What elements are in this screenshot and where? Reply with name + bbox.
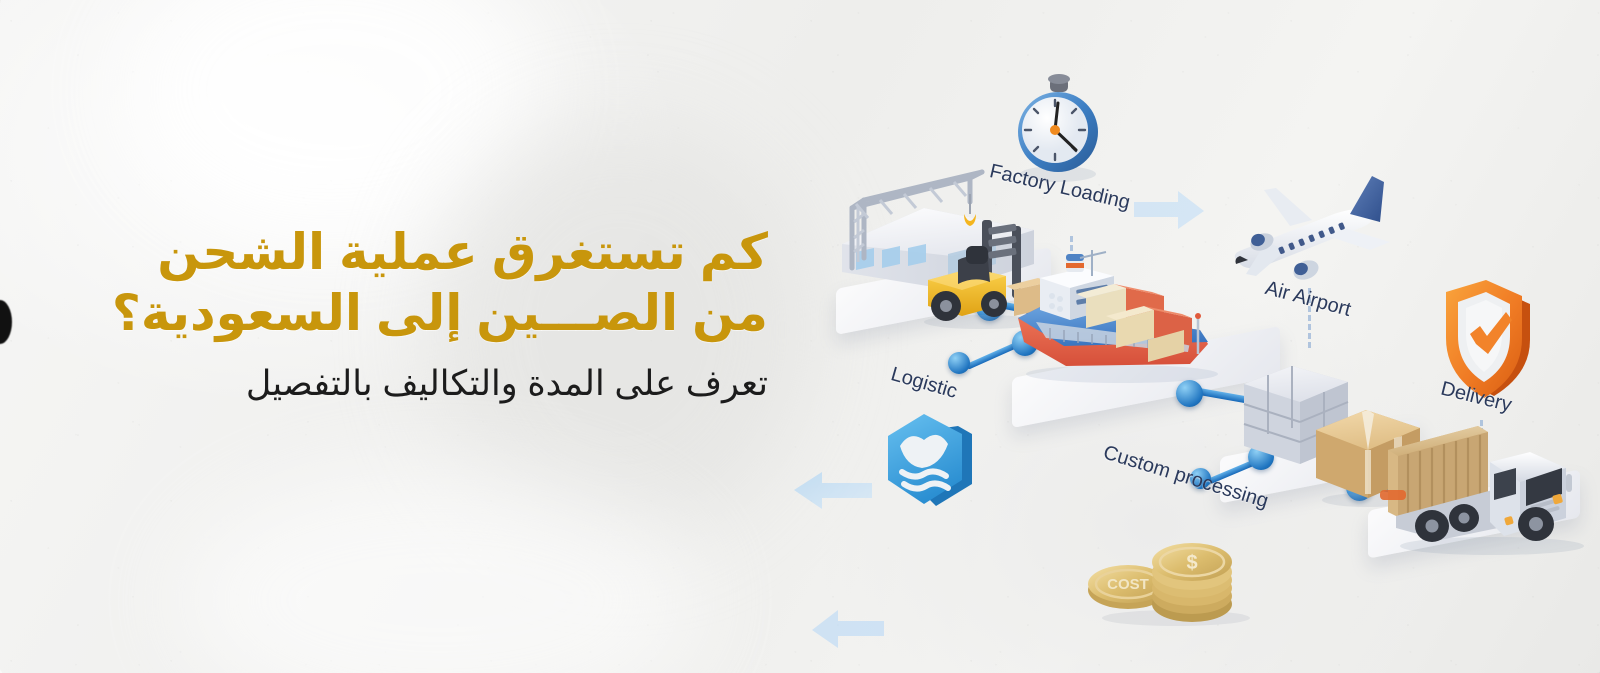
coin-cost-text: COST	[1107, 576, 1149, 593]
arrow-left-up-icon	[788, 470, 878, 540]
background-shade-bottom	[180, 470, 700, 673]
delivery-truck-icon	[1380, 418, 1600, 558]
background-shade-left	[120, 0, 540, 240]
subtitle: تعرف على المدة والتكاليف بالتفصيل	[0, 360, 768, 407]
logistics-badge-icon	[874, 408, 984, 518]
shipping-banner: كم تستغرق عملية الشحن من الصـــين إلى ال…	[0, 0, 1600, 673]
headline-block: كم تستغرق عملية الشحن من الصـــين إلى ال…	[0, 222, 790, 407]
coins-icon: COST $	[1080, 518, 1260, 628]
connector-node-2	[948, 352, 970, 374]
airplane-icon	[1194, 170, 1394, 300]
coin-dollar-text: $	[1186, 552, 1197, 574]
headline-line-2: من الصـــين إلى السعودية؟	[0, 283, 768, 344]
logistics-illustration: Factory Loading	[780, 0, 1600, 673]
headline-line-1: كم تستغرق عملية الشحن	[0, 222, 768, 283]
arrow-bottom-left-icon	[808, 600, 888, 664]
